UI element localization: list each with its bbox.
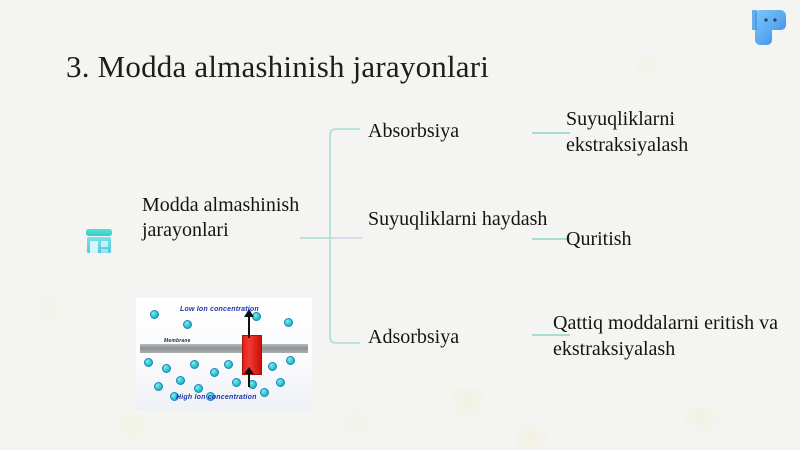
ion-dot — [176, 376, 185, 385]
factory-icon — [84, 228, 114, 255]
slide-canvas: 3. Modda almashinish jarayonlari Modda a… — [0, 0, 800, 450]
figure-background: Membrane Low Ion concentration High Ion … — [136, 298, 312, 410]
background-speck — [122, 420, 142, 434]
dash-connector — [532, 132, 570, 134]
branch-application-label: Suyuqliklarni ekstraksiyalash — [566, 106, 796, 158]
background-speck — [640, 60, 658, 73]
background-speck — [346, 414, 366, 429]
background-speck — [40, 300, 58, 314]
membrane-bar — [140, 344, 308, 353]
page-title: 3. Modda almashinish jarayonlari — [66, 48, 489, 86]
ion-dot — [144, 358, 153, 367]
ion-dot — [210, 368, 219, 377]
ion-dot — [194, 384, 203, 393]
ion-dot — [260, 388, 269, 397]
branch-application-label: Qattiq moddalarni eritish va ekstraksiya… — [553, 310, 783, 362]
ion-dot — [268, 362, 277, 371]
ion-dot — [232, 378, 241, 387]
background-speck — [520, 430, 542, 446]
dash-connector — [532, 238, 570, 240]
ion-dot — [224, 360, 233, 369]
branch-process-label: Adsorbsiya — [368, 324, 558, 350]
branch-process-label: Suyuqliklarni haydash — [368, 206, 558, 232]
ion-dot — [154, 382, 163, 391]
ion-dot — [190, 360, 199, 369]
branch-process-label: Absorbsiya — [368, 118, 558, 144]
transport-arrow-up-icon — [248, 316, 250, 338]
ion-dot — [183, 320, 192, 329]
ion-dot — [276, 378, 285, 387]
figure-caption-high: High Ion concentration — [176, 394, 257, 401]
ion-dot — [284, 318, 293, 327]
membrane-ion-transport-diagram: Membrane Low Ion concentration High Ion … — [136, 298, 312, 410]
ion-dot — [286, 356, 295, 365]
presentation-logo — [750, 4, 790, 46]
background-speck — [455, 392, 481, 412]
transport-arrow-in-icon — [248, 373, 250, 387]
root-node-label: Modda almashinish jarayonlari — [142, 193, 302, 243]
ion-dot — [150, 310, 159, 319]
membrane-label: Membrane — [164, 338, 191, 344]
figure-caption-low: Low Ion concentration — [180, 306, 259, 313]
branch-application-label: Quritish — [566, 226, 796, 252]
background-speck — [690, 408, 714, 426]
ion-dot — [162, 364, 171, 373]
